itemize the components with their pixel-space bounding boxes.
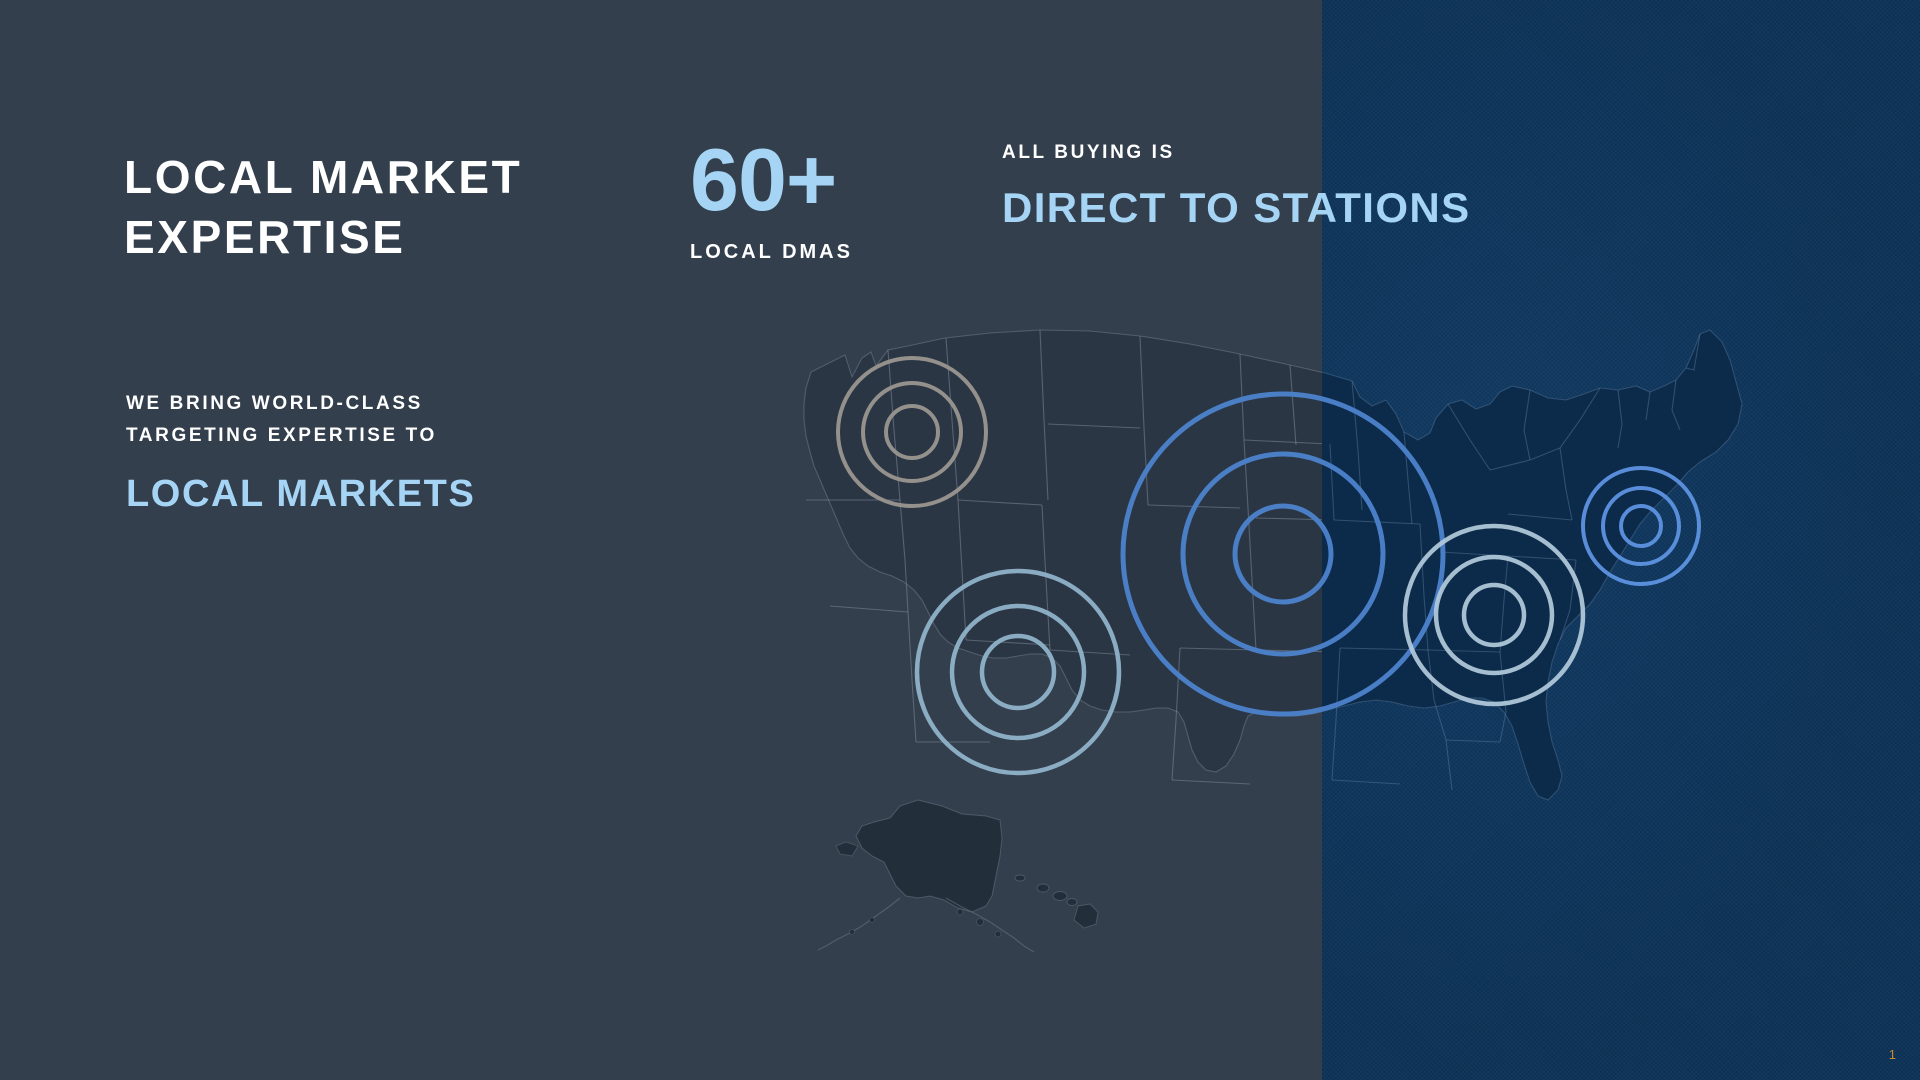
page-number: 1 bbox=[1889, 1047, 1896, 1062]
stat-number: 60+ bbox=[690, 140, 853, 221]
subhead-line-2: TARGETING EXPERTISE TO bbox=[126, 420, 566, 452]
buying-kicker: ALL BUYING IS bbox=[1002, 142, 1471, 164]
subhead-block: WE BRING WORLD-CLASS TARGETING EXPERTISE… bbox=[126, 388, 566, 516]
subhead-accent: LOCAL MARKETS bbox=[126, 474, 566, 516]
slide-root: LOCAL MARKET EXPERTISE WE BRING WORLD-CL… bbox=[0, 0, 1920, 1080]
stat-block: 60+ LOCAL DMAS bbox=[690, 140, 853, 264]
buying-block: ALL BUYING IS DIRECT TO STATIONS bbox=[1002, 142, 1471, 230]
subhead-line-1: WE BRING WORLD-CLASS bbox=[126, 388, 566, 420]
stat-label: LOCAL DMAS bbox=[690, 241, 853, 264]
buying-headline: DIRECT TO STATIONS bbox=[1002, 186, 1471, 230]
page-title: LOCAL MARKET EXPERTISE bbox=[124, 148, 644, 268]
